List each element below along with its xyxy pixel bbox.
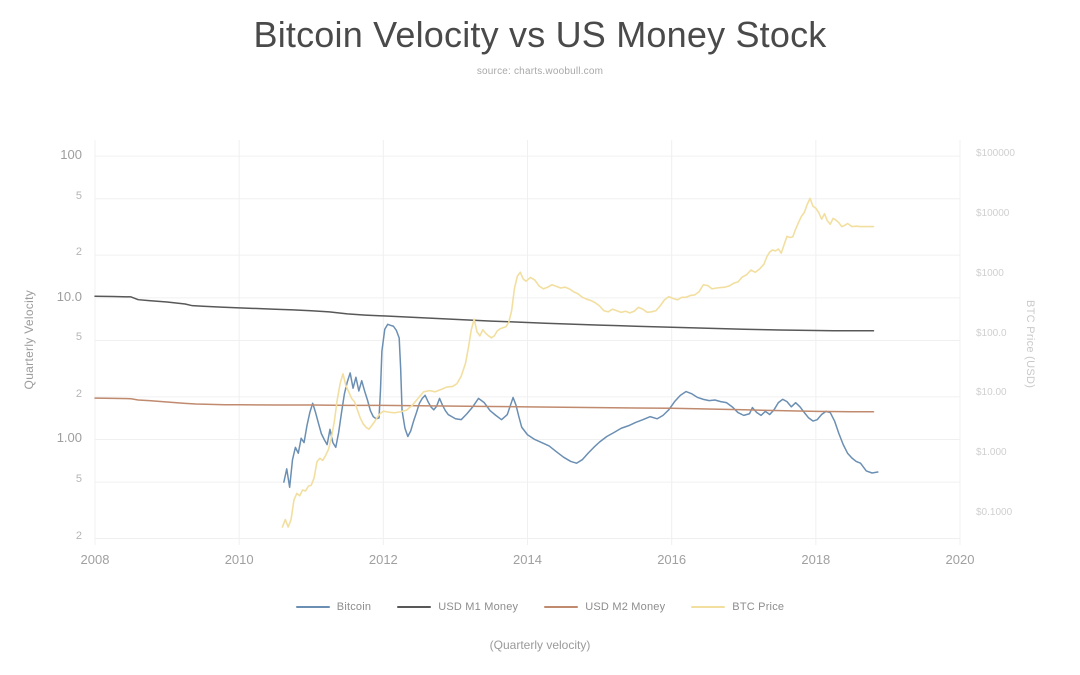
legend-swatch-icon (544, 606, 578, 608)
y-tick-label: 1.00 (30, 430, 82, 445)
legend-swatch-icon (691, 606, 725, 608)
plot-area (0, 0, 1080, 675)
chart-legend: BitcoinUSD M1 MoneyUSD M2 MoneyBTC Price (0, 601, 1080, 613)
y2-axis-title: BTC Price (USD) (1018, 300, 1036, 388)
series-line-usd-m1-money (95, 296, 874, 331)
legend-label: USD M1 Money (438, 601, 518, 613)
y-tick-label: 5 (30, 473, 82, 485)
chart-container: Bitcoin Velocity vs US Money Stock sourc… (0, 0, 1080, 675)
y2-tick-label: $10000 (976, 208, 1046, 219)
x-tick-label: 2018 (786, 552, 846, 567)
legend-item-bitcoin[interactable]: Bitcoin (296, 601, 371, 613)
series-line-usd-m2-money (95, 398, 874, 412)
x-tick-label: 2016 (642, 552, 702, 567)
legend-item-btc-price[interactable]: BTC Price (691, 601, 784, 613)
legend-item-usd-m1-money[interactable]: USD M1 Money (397, 601, 518, 613)
legend-item-usd-m2-money[interactable]: USD M2 Money (544, 601, 665, 613)
x-tick-label: 2008 (65, 552, 125, 567)
y-tick-label: 2 (30, 530, 82, 542)
y2-tick-label: $1.000 (976, 447, 1046, 458)
x-tick-label: 2020 (930, 552, 990, 567)
y-tick-label: 10.0 (30, 289, 82, 304)
y-tick-label: 2 (30, 388, 82, 400)
legend-label: USD M2 Money (585, 601, 665, 613)
series-line-btc-price (282, 198, 873, 527)
x-tick-label: 2014 (498, 552, 558, 567)
y-tick-label: 2 (30, 246, 82, 258)
footer-caption: (Quarterly velocity) (0, 638, 1080, 652)
legend-swatch-icon (397, 606, 431, 608)
legend-label: Bitcoin (337, 601, 371, 613)
y2-tick-label: $100000 (976, 148, 1046, 159)
legend-swatch-icon (296, 606, 330, 608)
y-tick-label: 100 (30, 147, 82, 162)
y-tick-label: 5 (30, 331, 82, 343)
x-tick-label: 2012 (353, 552, 413, 567)
y-tick-label: 5 (30, 190, 82, 202)
x-tick-label: 2010 (209, 552, 269, 567)
y2-tick-label: $100.0 (976, 328, 1046, 339)
legend-label: BTC Price (732, 601, 784, 613)
y2-tick-label: $10.00 (976, 387, 1046, 398)
y2-tick-label: $1000 (976, 268, 1046, 279)
y2-tick-label: $0.1000 (976, 507, 1046, 518)
